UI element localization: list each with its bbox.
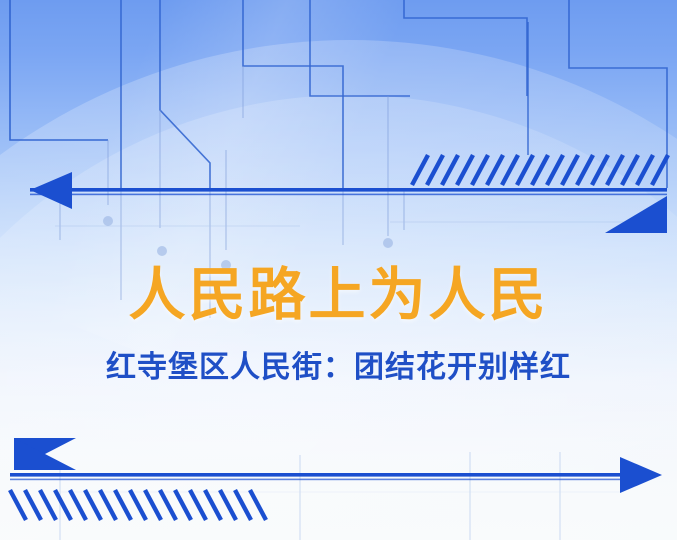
top-arrow-left [30, 172, 667, 209]
bottom-arrow-right [10, 457, 662, 493]
title-block: 人民路上为人民 红寺堡区人民街：团结花开别样红 [0, 262, 677, 388]
bottom-hatch-marks [10, 490, 266, 520]
top-right-triangle [605, 196, 667, 233]
bottom-left-triangle [14, 438, 76, 470]
poster-canvas: 人民路上为人民 红寺堡区人民街：团结花开别样红 [0, 0, 677, 540]
sub-title: 红寺堡区人民街：团结花开别样红 [0, 348, 677, 388]
main-title: 人民路上为人民 [0, 262, 677, 328]
top-hatch-marks [412, 155, 668, 185]
